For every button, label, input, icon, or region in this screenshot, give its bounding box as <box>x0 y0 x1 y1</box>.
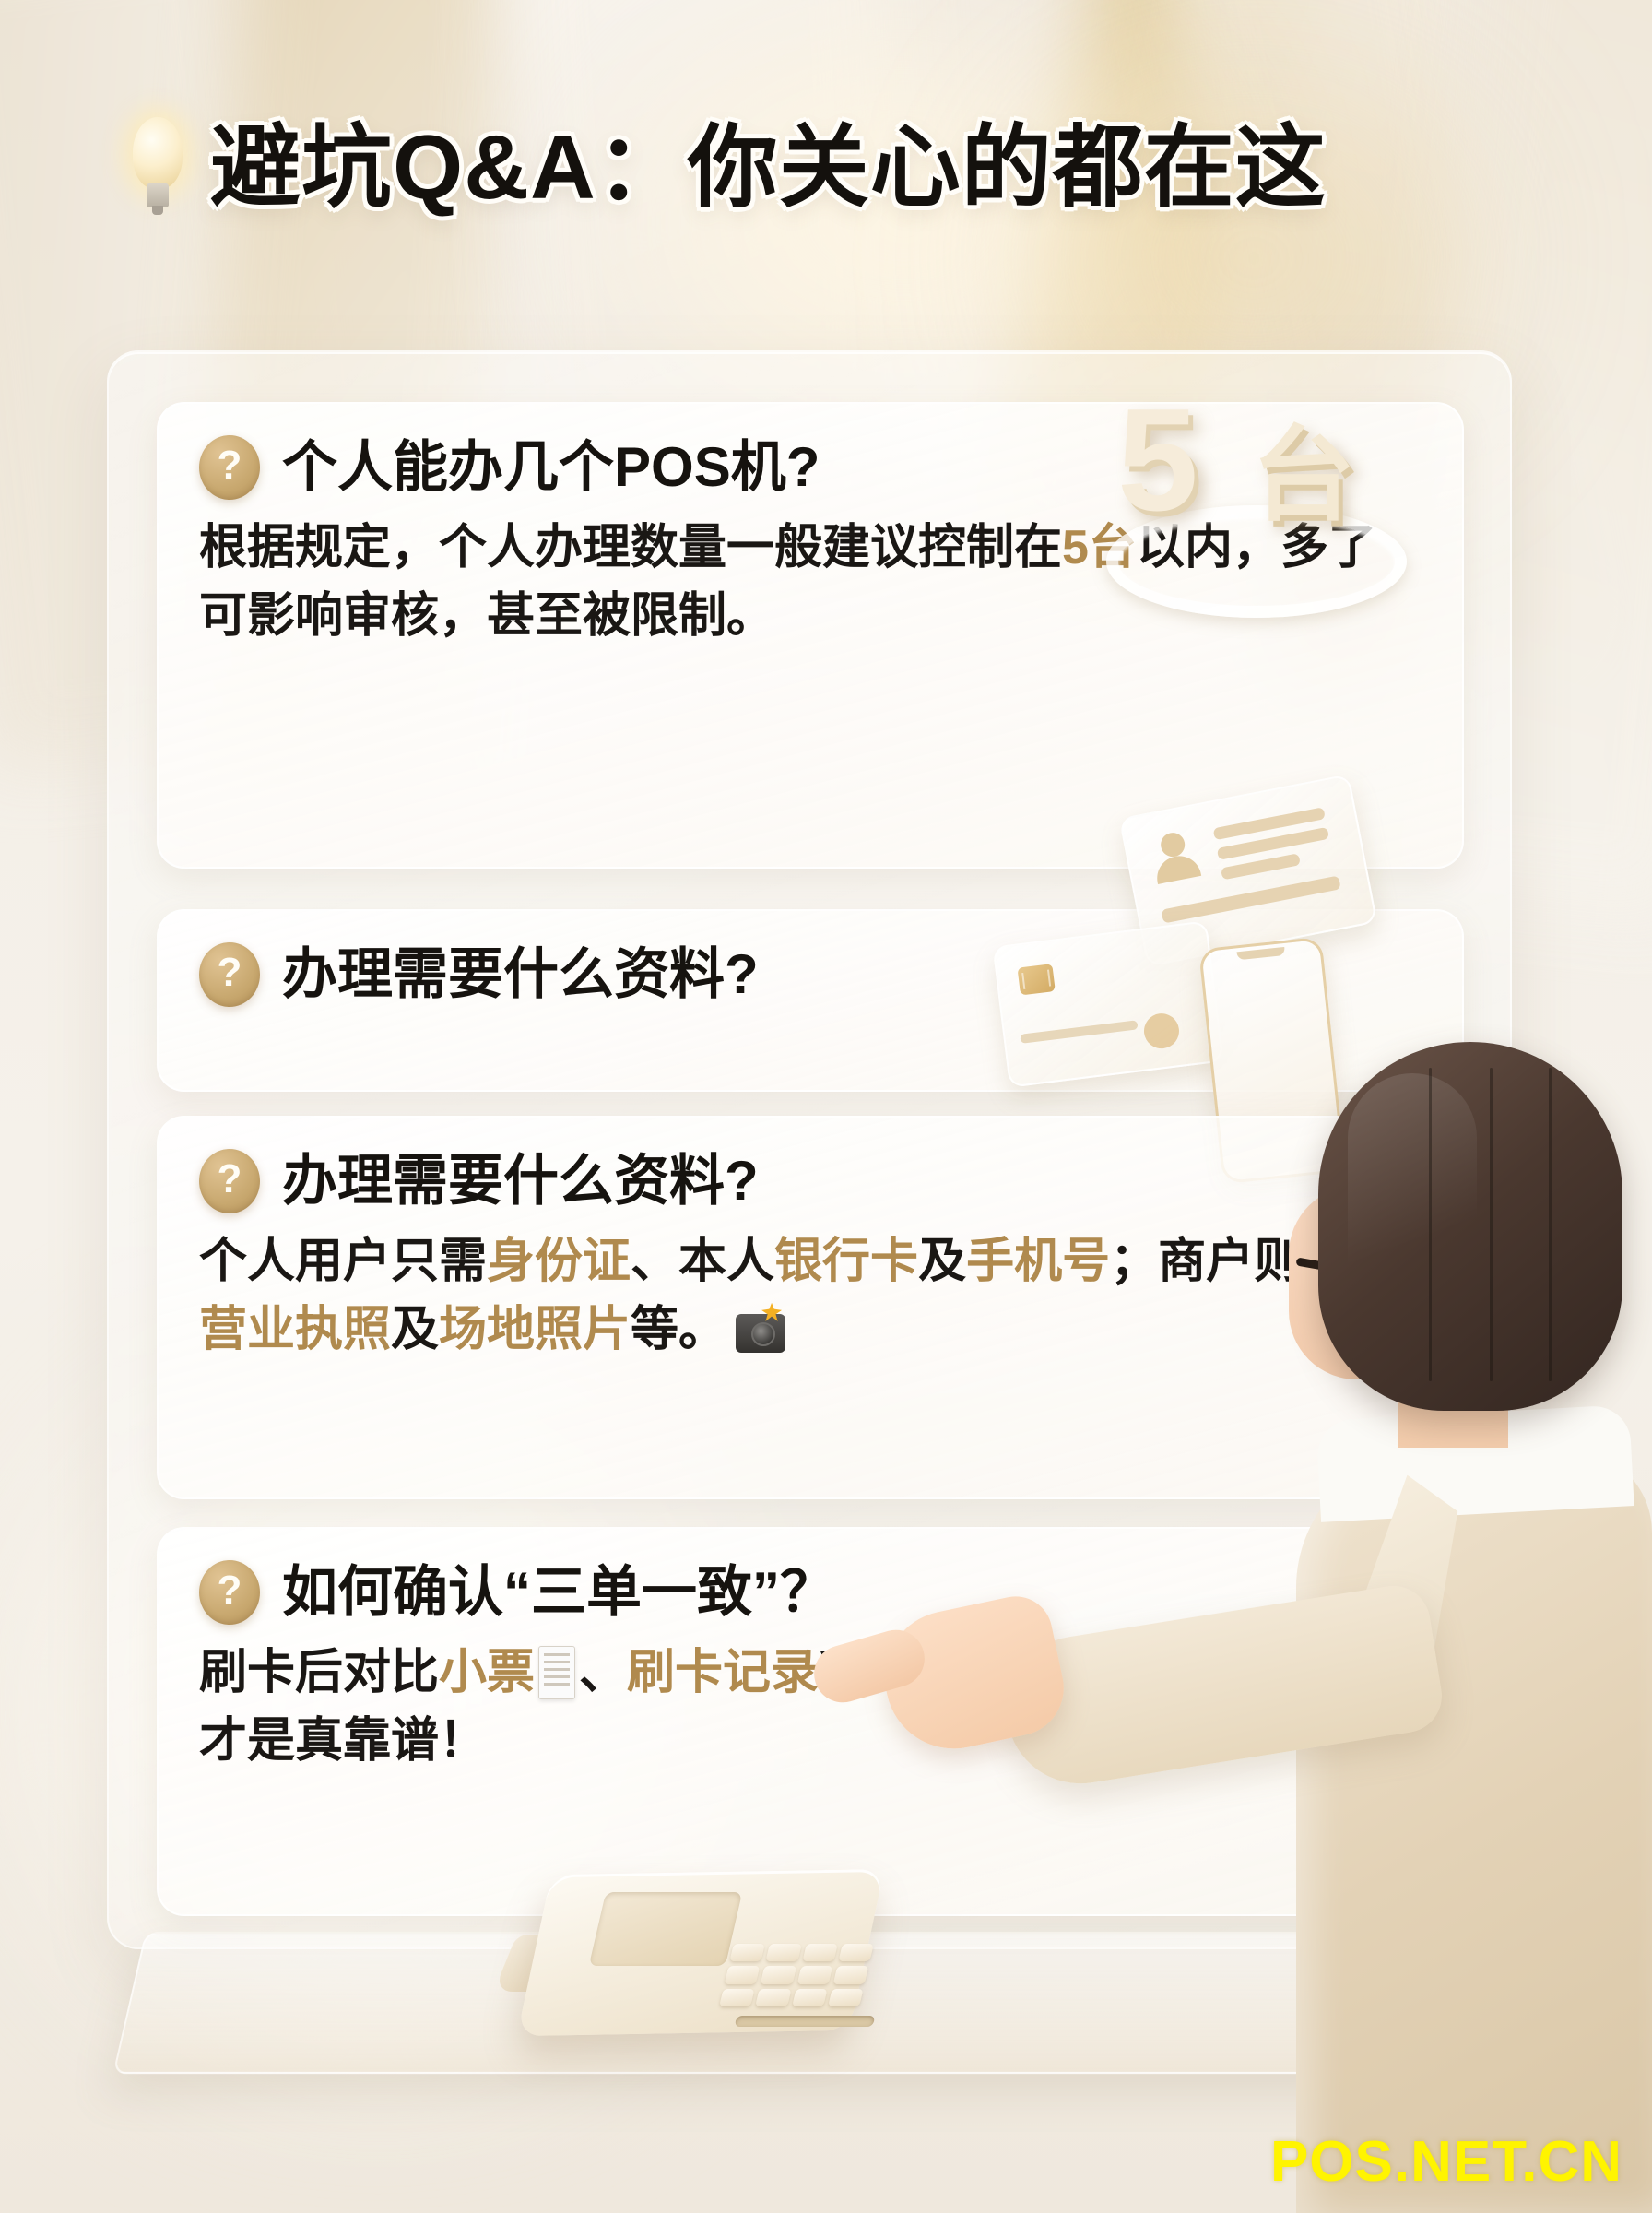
highlighted-term: 场地照片 <box>439 1296 631 1365</box>
question-label: 如何确认“三单一致”？ <box>282 1561 835 1624</box>
avatar-head <box>1159 831 1186 858</box>
answer-run: 、 <box>579 1646 627 1699</box>
pos-terminal-screen <box>589 1892 742 1966</box>
card-logo-dot <box>1142 1012 1181 1050</box>
hair-strand <box>1549 1068 1552 1381</box>
lightbulb-icon <box>129 117 186 217</box>
highlighted-term: 手机号 <box>966 1228 1110 1296</box>
highlighted-term: 小票 <box>439 1639 535 1708</box>
pos-key <box>792 1989 828 2006</box>
question-text: 个人能办几个POS机? <box>282 436 820 499</box>
question-mark-badge: ? <box>199 1560 260 1625</box>
answer-run: 刷卡后对比 <box>199 1646 439 1699</box>
camera-icon <box>736 1314 785 1353</box>
pos-key <box>725 1966 761 1983</box>
answer-run: 根据规定，个人办理数量一般建议控制在 <box>199 521 1062 574</box>
pos-key <box>719 1989 755 2006</box>
question-mark-badge: ? <box>199 435 260 500</box>
question-mark-badge: ? <box>199 1149 260 1213</box>
pos-terminal-keypad <box>719 1944 874 2006</box>
avatar-icon <box>1147 828 1203 884</box>
card-number-strip <box>1020 1020 1138 1044</box>
pos-key <box>796 1966 832 1983</box>
receipt-icon <box>538 1646 575 1699</box>
highlighted-term: 营业执照 <box>199 1296 391 1365</box>
hair-strand <box>1429 1068 1432 1381</box>
answer-run: 、本人 <box>631 1235 774 1288</box>
five-units-sculpture: 5 台 <box>1097 367 1401 598</box>
question-label: 办理需要什么资料? <box>282 1150 759 1213</box>
pos-key <box>766 1944 802 1961</box>
id-card-line <box>1161 875 1340 923</box>
answer-run: 个人用户只需 <box>199 1235 487 1288</box>
answer-run: 等。 <box>631 1303 726 1356</box>
lightbulb-glass <box>133 117 183 189</box>
answer-run: 及 <box>918 1235 966 1288</box>
question-mark-badge: ? <box>199 942 260 1007</box>
question-text: 办理需要什么资料? <box>282 943 759 1006</box>
page-title: 避坑Q&A：你关心的都在这 <box>210 122 1327 212</box>
pos-key <box>838 1944 874 1961</box>
answer-run: 及 <box>391 1303 439 1356</box>
sculpture-number: 5 <box>1117 387 1198 533</box>
page-header: 避坑Q&A：你关心的都在这 <box>0 89 1652 245</box>
woman-illustration <box>1217 1042 1652 2213</box>
pos-key <box>761 1966 796 1983</box>
pos-terminal-illustration <box>479 1835 968 2112</box>
woman-blazer <box>1296 1450 1652 2213</box>
highlighted-term: 刷卡记录 <box>627 1639 819 1708</box>
lightbulb-base <box>147 183 169 207</box>
woman-hair <box>1318 1042 1622 1411</box>
pos-key <box>833 1966 869 1983</box>
card-chip-icon <box>1017 964 1055 995</box>
site-watermark: POS.NET.CN <box>1270 2134 1622 2191</box>
pos-key <box>828 1989 864 2006</box>
question-text: 办理需要什么资料? <box>282 1150 759 1213</box>
pos-key <box>802 1944 838 1961</box>
hair-strand <box>1490 1068 1493 1381</box>
highlighted-term: 银行卡 <box>774 1228 918 1296</box>
bank-card-icon <box>992 920 1223 1087</box>
question-label: 个人能办几个POS机? <box>282 436 820 499</box>
avatar-body <box>1153 852 1201 884</box>
sculpture-unit: 台 <box>1252 424 1355 527</box>
pos-key <box>729 1944 765 1961</box>
pos-receipt-slot <box>735 2016 876 2027</box>
pos-key <box>755 1989 791 2006</box>
question-label: 办理需要什么资料? <box>282 943 759 1005</box>
question-text: 如何确认“三单一致”？ <box>282 1561 835 1624</box>
highlighted-term: 身份证 <box>487 1228 631 1296</box>
